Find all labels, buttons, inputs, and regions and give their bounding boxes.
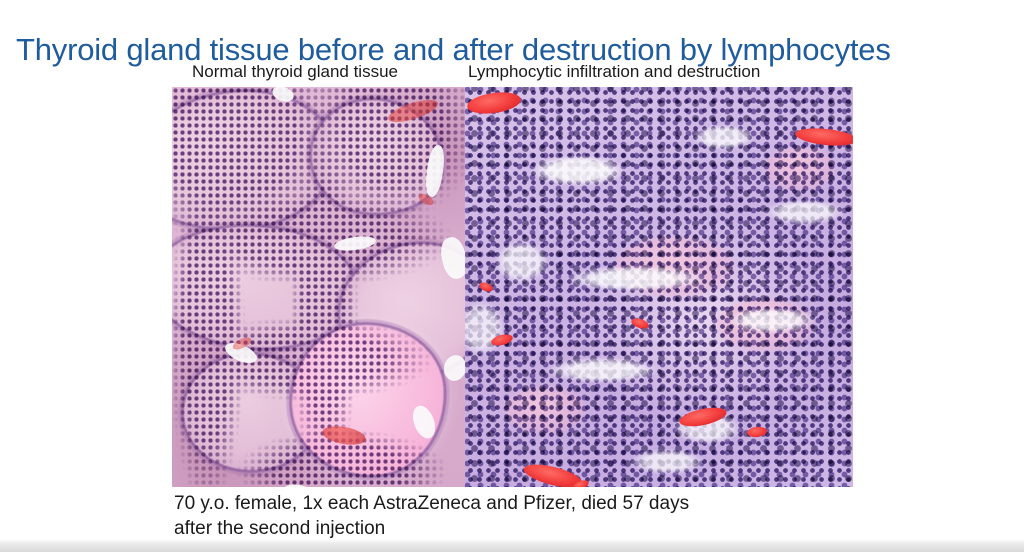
panel-label-row: Normal thyroid gland tissue Lymphocytic … bbox=[172, 60, 854, 84]
caption-line-1: 70 y.o. female, 1x each AstraZeneca and … bbox=[174, 491, 894, 516]
panel-label-normal-thyroid: Normal thyroid gland tissue bbox=[192, 60, 398, 84]
slide-canvas: Thyroid gland tissue before and after de… bbox=[0, 0, 1024, 552]
panel-label-lymphocytic-infiltration: Lymphocytic infiltration and destruction bbox=[468, 60, 760, 84]
histology-image-normal-thyroid bbox=[172, 87, 465, 487]
bottom-gradient-band bbox=[0, 539, 1024, 552]
caption-line-2: after the second injection bbox=[174, 516, 894, 541]
tissue-clearings bbox=[465, 87, 853, 487]
histology-image-lymphocytic-infiltration bbox=[465, 87, 853, 487]
histology-figure bbox=[172, 87, 853, 487]
figure-caption: 70 y.o. female, 1x each AstraZeneca and … bbox=[174, 491, 894, 541]
